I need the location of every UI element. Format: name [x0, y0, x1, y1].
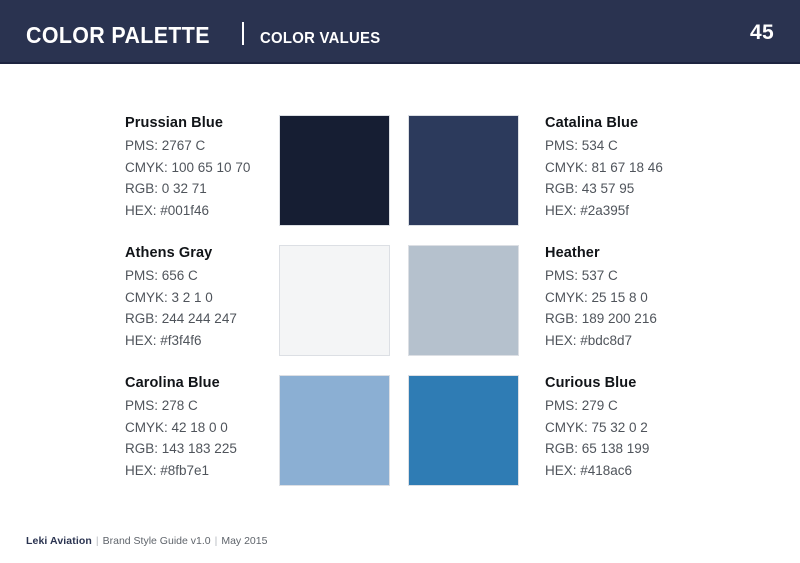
color-pms: PMS: 2767 C: [125, 135, 250, 157]
color-info-block: Heather PMS: 537 C CMYK: 25 15 8 0 RGB: …: [545, 242, 657, 351]
title-divider: [242, 22, 244, 45]
color-rgb: RGB: 43 57 95: [545, 178, 663, 200]
color-entry: Catalina Blue PMS: 534 C CMYK: 81 67 18 …: [400, 112, 800, 242]
color-entry: Prussian Blue PMS: 2767 C CMYK: 100 65 1…: [0, 112, 400, 242]
page-title: COLOR PALETTE: [26, 22, 210, 49]
color-rgb: RGB: 65 138 199: [545, 438, 649, 460]
color-swatch: [279, 115, 390, 226]
footer-document: Brand Style Guide v1.0: [103, 535, 211, 547]
color-palette-grid: Prussian Blue PMS: 2767 C CMYK: 100 65 1…: [0, 64, 800, 494]
color-rgb: RGB: 0 32 71: [125, 178, 250, 200]
color-rgb: RGB: 189 200 216: [545, 308, 657, 330]
header-title-group: COLOR PALETTE COLOR VALUES: [26, 20, 389, 49]
color-swatch: [408, 245, 519, 356]
color-info-block: Athens Gray PMS: 656 C CMYK: 3 2 1 0 RGB…: [125, 242, 237, 351]
color-hex: HEX: #2a395f: [545, 200, 663, 222]
color-name: Heather: [545, 242, 657, 264]
color-info-block: Prussian Blue PMS: 2767 C CMYK: 100 65 1…: [125, 112, 250, 221]
color-name: Athens Gray: [125, 242, 237, 264]
color-pms: PMS: 537 C: [545, 265, 657, 287]
color-entry: Curious Blue PMS: 279 C CMYK: 75 32 0 2 …: [400, 372, 800, 502]
color-cmyk: CMYK: 75 32 0 2: [545, 417, 649, 439]
color-info-block: Catalina Blue PMS: 534 C CMYK: 81 67 18 …: [545, 112, 663, 221]
color-cmyk: CMYK: 3 2 1 0: [125, 287, 237, 309]
color-cmyk: CMYK: 81 67 18 46: [545, 157, 663, 179]
color-cmyk: CMYK: 42 18 0 0: [125, 417, 237, 439]
footer-date: May 2015: [221, 535, 267, 547]
color-info-block: Curious Blue PMS: 279 C CMYK: 75 32 0 2 …: [545, 372, 649, 481]
color-name: Carolina Blue: [125, 372, 237, 394]
color-hex: HEX: #001f46: [125, 200, 250, 222]
color-hex: HEX: #bdc8d7: [545, 330, 657, 352]
page-header-bar: COLOR PALETTE COLOR VALUES 45: [0, 0, 800, 64]
color-swatch: [279, 245, 390, 356]
footer-separator-2: |: [211, 535, 222, 547]
color-hex: HEX: #418ac6: [545, 460, 649, 482]
color-cmyk: CMYK: 100 65 10 70: [125, 157, 250, 179]
page-subtitle: COLOR VALUES: [260, 30, 380, 48]
color-cmyk: CMYK: 25 15 8 0: [545, 287, 657, 309]
color-pms: PMS: 656 C: [125, 265, 237, 287]
color-rgb: RGB: 244 244 247: [125, 308, 237, 330]
color-rgb: RGB: 143 183 225: [125, 438, 237, 460]
color-name: Prussian Blue: [125, 112, 250, 134]
color-name: Catalina Blue: [545, 112, 663, 134]
color-pms: PMS: 534 C: [545, 135, 663, 157]
color-entry: Athens Gray PMS: 656 C CMYK: 3 2 1 0 RGB…: [0, 242, 400, 372]
color-name: Curious Blue: [545, 372, 649, 394]
color-pms: PMS: 279 C: [545, 395, 649, 417]
footer-brand: Leki Aviation: [26, 535, 92, 547]
color-entry: Heather PMS: 537 C CMYK: 25 15 8 0 RGB: …: [400, 242, 800, 372]
color-info-block: Carolina Blue PMS: 278 C CMYK: 42 18 0 0…: [125, 372, 237, 481]
color-pms: PMS: 278 C: [125, 395, 237, 417]
color-entry: Carolina Blue PMS: 278 C CMYK: 42 18 0 0…: [0, 372, 400, 502]
color-hex: HEX: #8fb7e1: [125, 460, 237, 482]
page-number: 45: [750, 21, 774, 45]
color-swatch: [408, 115, 519, 226]
page-footer: Leki Aviation|Brand Style Guide v1.0|May…: [26, 534, 267, 548]
color-swatch: [408, 375, 519, 486]
color-swatch: [279, 375, 390, 486]
color-hex: HEX: #f3f4f6: [125, 330, 237, 352]
footer-separator-1: |: [92, 535, 103, 547]
